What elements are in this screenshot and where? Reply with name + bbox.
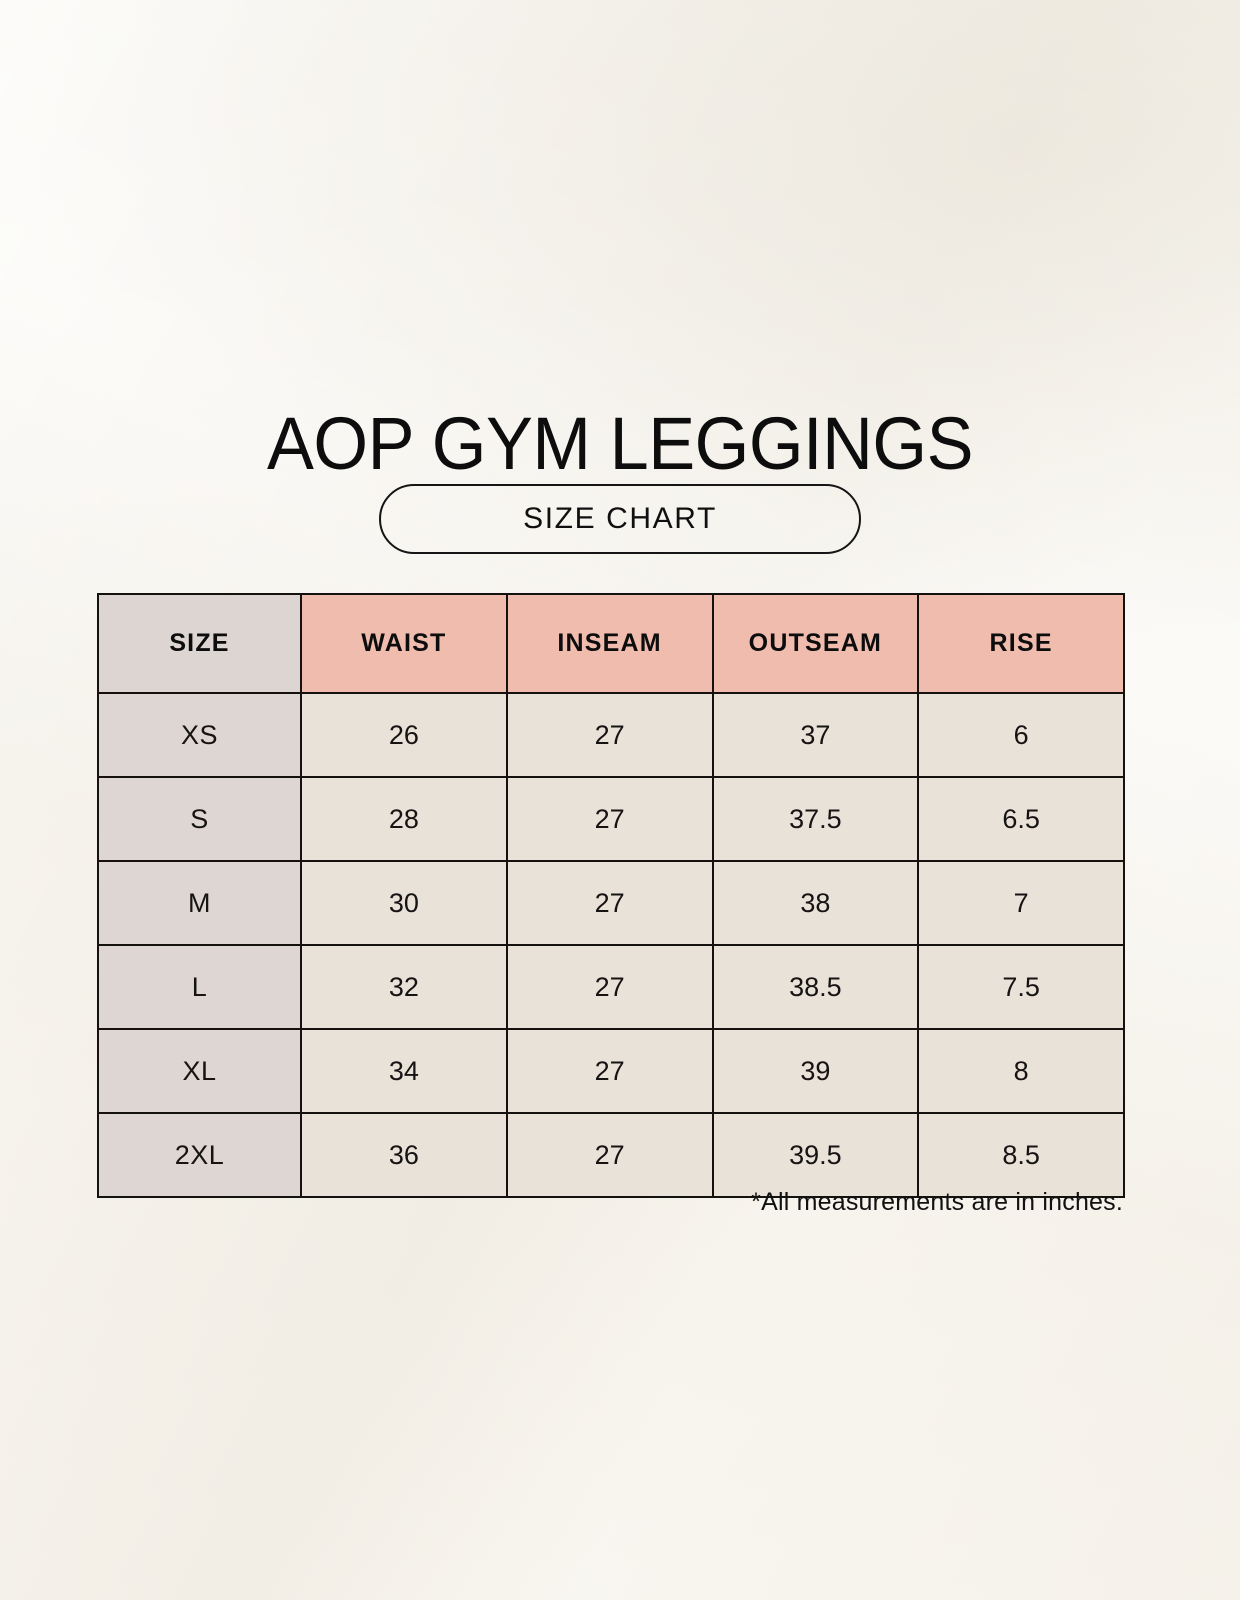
- cell-size: L: [98, 945, 301, 1029]
- size-chart-table: SIZE WAIST INSEAM OUTSEAM RISE XS 26 27 …: [97, 593, 1125, 1198]
- column-header-rise: RISE: [918, 594, 1124, 693]
- size-table-container: SIZE WAIST INSEAM OUTSEAM RISE XS 26 27 …: [97, 593, 1123, 1198]
- cell-inseam: 27: [507, 777, 713, 861]
- column-header-outseam: OUTSEAM: [713, 594, 919, 693]
- cell-rise: 6: [918, 693, 1124, 777]
- table-row: M 30 27 38 7: [98, 861, 1124, 945]
- cell-waist: 26: [301, 693, 507, 777]
- cell-inseam: 27: [507, 1029, 713, 1113]
- cell-outseam: 37: [713, 693, 919, 777]
- cell-waist: 32: [301, 945, 507, 1029]
- cell-outseam: 38: [713, 861, 919, 945]
- cell-waist: 34: [301, 1029, 507, 1113]
- cell-waist: 28: [301, 777, 507, 861]
- cell-size: XS: [98, 693, 301, 777]
- column-header-size: SIZE: [98, 594, 301, 693]
- measurement-note: *All measurements are in inches.: [0, 1188, 1123, 1217]
- cell-inseam: 27: [507, 693, 713, 777]
- size-chart-page: AOP GYM LEGGINGS SIZE CHART SIZE WAIST I…: [0, 0, 1240, 1600]
- table-row: S 28 27 37.5 6.5: [98, 777, 1124, 861]
- cell-size: XL: [98, 1029, 301, 1113]
- badge-container: SIZE CHART: [0, 484, 1240, 554]
- column-header-inseam: INSEAM: [507, 594, 713, 693]
- table-body: XS 26 27 37 6 S 28 27 37.5 6.5 M 30 27: [98, 693, 1124, 1197]
- cell-rise: 7: [918, 861, 1124, 945]
- column-header-waist: WAIST: [301, 594, 507, 693]
- cell-outseam: 39: [713, 1029, 919, 1113]
- cell-size: 2XL: [98, 1113, 301, 1197]
- cell-rise: 8: [918, 1029, 1124, 1113]
- cell-size: S: [98, 777, 301, 861]
- cell-inseam: 27: [507, 861, 713, 945]
- table-row: XL 34 27 39 8: [98, 1029, 1124, 1113]
- cell-outseam: 39.5: [713, 1113, 919, 1197]
- table-row: L 32 27 38.5 7.5: [98, 945, 1124, 1029]
- cell-waist: 30: [301, 861, 507, 945]
- cell-outseam: 37.5: [713, 777, 919, 861]
- cell-inseam: 27: [507, 1113, 713, 1197]
- page-title: AOP GYM LEGGINGS: [31, 402, 1209, 486]
- cell-size: M: [98, 861, 301, 945]
- cell-rise: 8.5: [918, 1113, 1124, 1197]
- size-chart-badge: SIZE CHART: [379, 484, 861, 554]
- table-row: XS 26 27 37 6: [98, 693, 1124, 777]
- header-row: SIZE WAIST INSEAM OUTSEAM RISE: [98, 594, 1124, 693]
- cell-rise: 7.5: [918, 945, 1124, 1029]
- cell-waist: 36: [301, 1113, 507, 1197]
- cell-inseam: 27: [507, 945, 713, 1029]
- cell-rise: 6.5: [918, 777, 1124, 861]
- table-header: SIZE WAIST INSEAM OUTSEAM RISE: [98, 594, 1124, 693]
- table-row: 2XL 36 27 39.5 8.5: [98, 1113, 1124, 1197]
- cell-outseam: 38.5: [713, 945, 919, 1029]
